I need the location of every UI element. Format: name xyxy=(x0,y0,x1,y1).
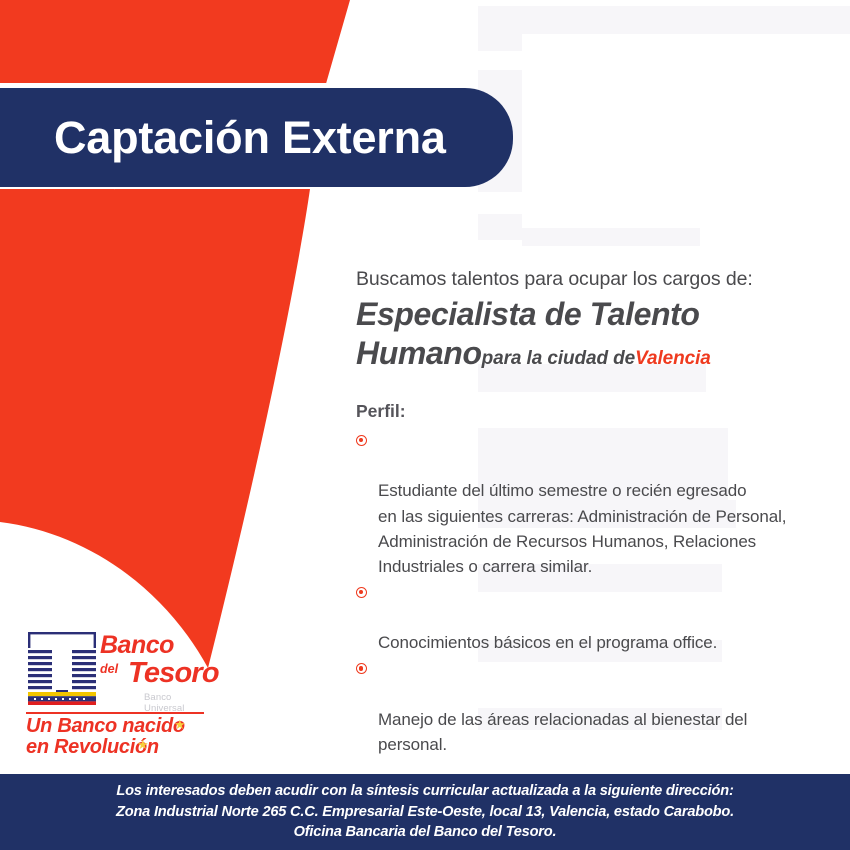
job-posting-content: Buscamos talentos para ocupar los cargos… xyxy=(356,268,826,758)
watermark-block xyxy=(478,34,522,51)
footer-line-2: Zona Industrial Norte 265 C.C. Empresari… xyxy=(116,802,734,823)
star-icon: ★ xyxy=(137,738,149,751)
bullet-dot-icon xyxy=(356,435,367,446)
footer-line-3: Oficina Bancaria del Banco del Tesoro. xyxy=(294,822,557,843)
list-item: Estudiante del último semestre o recién … xyxy=(356,428,826,579)
page-title: Captación Externa xyxy=(54,112,446,164)
footer-address-bar: Los interesados deben acudir con la sínt… xyxy=(0,774,850,850)
bullet-dot-icon xyxy=(356,663,367,674)
logo-word-banco: Banco xyxy=(100,634,212,658)
bank-logo: Banco del Tesoro Banco Universal Un Banc… xyxy=(22,628,208,758)
logo-tagline-line-2: en Revolución xyxy=(26,737,208,758)
footer-line-1: Los interesados deben acudir con la sínt… xyxy=(116,781,733,802)
star-icon: ★ xyxy=(174,718,186,731)
banco-del-tesoro-building-icon xyxy=(26,630,98,706)
watermark-block xyxy=(478,214,522,240)
logo-divider xyxy=(26,712,204,714)
list-item: Conocimientos básicos en el programa off… xyxy=(356,580,826,655)
city-phrase: para la ciudad de xyxy=(482,348,636,369)
watermark-block xyxy=(522,228,700,246)
city-name: Valencia xyxy=(635,348,711,369)
bullet-dot-icon xyxy=(356,587,367,598)
profile-heading: Perfil: xyxy=(356,401,826,422)
list-item: Manejo de las áreas relacionadas al bien… xyxy=(356,656,826,757)
logo-wordmark: Banco del Tesoro Banco Universal xyxy=(100,634,212,658)
list-item-text: Conocimientos básicos en el programa off… xyxy=(378,633,717,652)
logo-word-del: del xyxy=(100,662,118,676)
poster-canvas: Captación Externa Buscamos talentos para… xyxy=(0,0,850,850)
header-banner: Captación Externa xyxy=(0,88,513,187)
logo-subtitle-banco-universal: Banco Universal xyxy=(144,692,212,714)
red-angled-accent-shape xyxy=(0,189,310,671)
watermark-block xyxy=(478,6,850,34)
logo-word-tesoro: Tesoro xyxy=(128,660,219,688)
red-top-banner-shape xyxy=(0,0,350,83)
lead-line: Buscamos talentos para ocupar los cargos… xyxy=(356,268,826,291)
list-item-text: Estudiante del último semestre o recién … xyxy=(378,481,786,575)
job-title-block: Especialista de Talento Humanopara la ci… xyxy=(356,295,826,373)
profile-requirements-list: Estudiante del último semestre o recién … xyxy=(356,428,826,757)
list-item-text: Manejo de las áreas relacionadas al bien… xyxy=(378,710,747,754)
